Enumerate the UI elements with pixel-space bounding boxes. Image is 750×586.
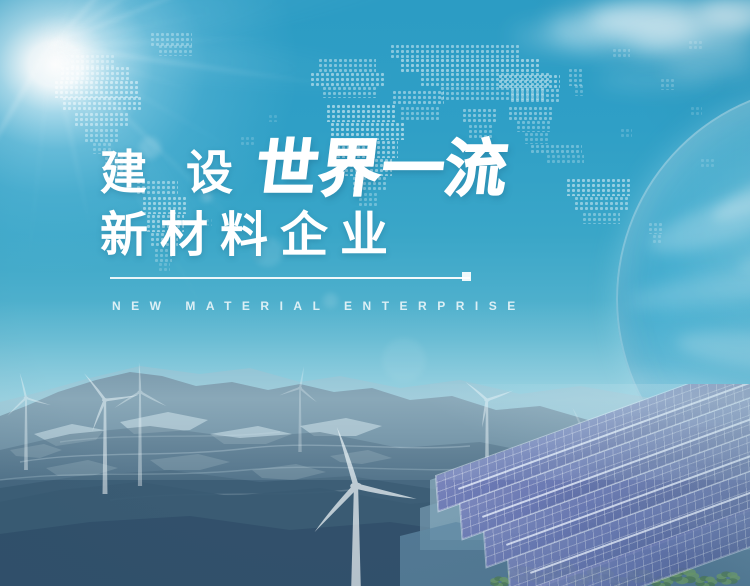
divider-end-square (462, 272, 471, 281)
headline-bold-text: 世界一流 (252, 139, 512, 201)
headline-divider (110, 277, 470, 279)
headline-text-block: 建 设 世界一流 新材料企业 NEW MATERIAL ENTERPRISE (0, 0, 750, 586)
headline-line-1: 建 设 世界一流 (100, 134, 508, 196)
headline-light-text: 建 设 (100, 149, 246, 196)
headline-line-2: 新材料企业 (100, 212, 400, 260)
banner-hero: 建 设 世界一流 新材料企业 NEW MATERIAL ENTERPRISE (0, 0, 750, 586)
subtitle-english: NEW MATERIAL ENTERPRISE (112, 300, 526, 312)
